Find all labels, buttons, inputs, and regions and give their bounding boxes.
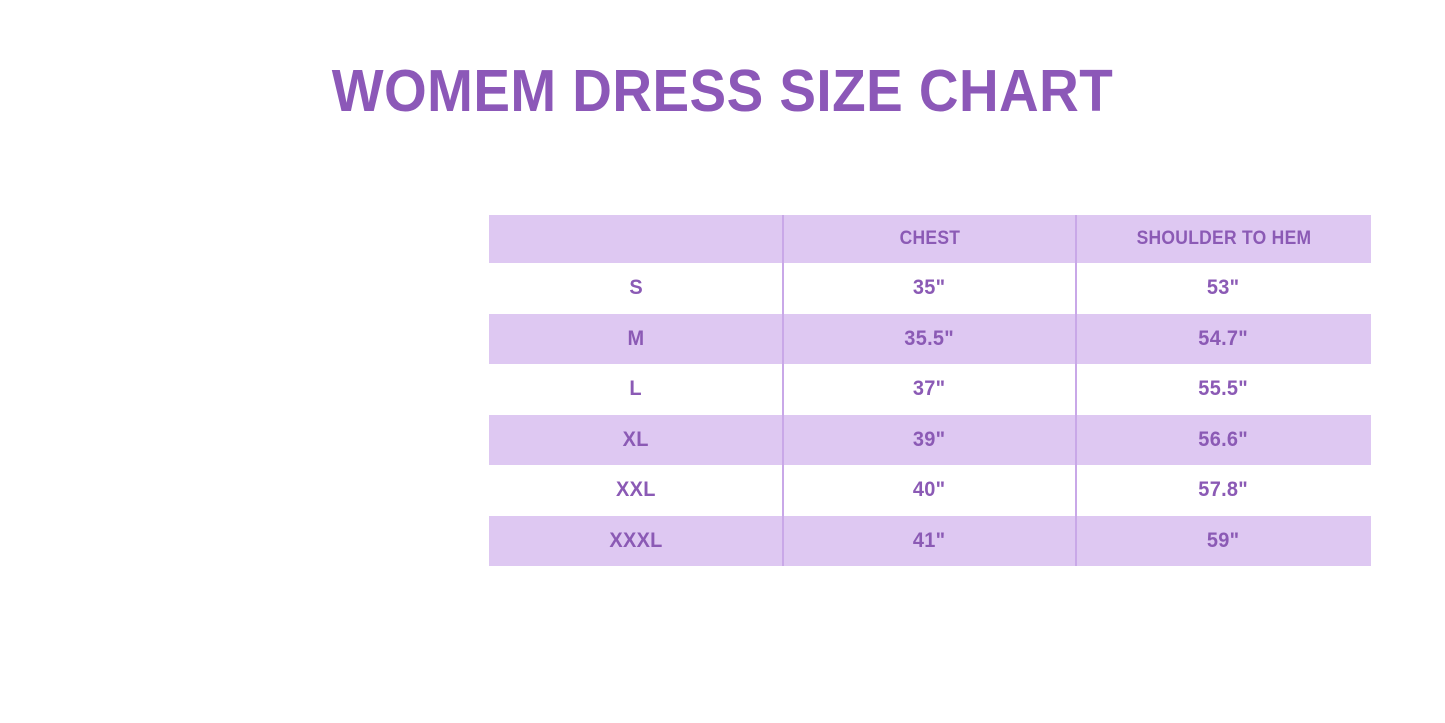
cell-size: S bbox=[489, 263, 783, 314]
cell-shoulder-to-hem: 56.6" bbox=[1076, 415, 1371, 466]
cell-shoulder-to-hem-label: 59" bbox=[1207, 529, 1240, 553]
cell-shoulder-to-hem: 57.8" bbox=[1076, 465, 1371, 516]
cell-shoulder-to-hem: 59" bbox=[1076, 516, 1371, 567]
table-row: XXXL 41" 59" bbox=[489, 516, 1371, 567]
cell-chest-label: 39" bbox=[913, 428, 946, 452]
cell-size: XXL bbox=[489, 465, 783, 516]
table-row: M 35.5" 54.7" bbox=[489, 314, 1371, 365]
cell-chest-label: 35.5" bbox=[905, 327, 955, 351]
cell-size-label: XXL bbox=[616, 478, 656, 502]
cell-shoulder-to-hem-label: 53" bbox=[1207, 276, 1240, 300]
cell-chest: 39" bbox=[783, 415, 1076, 466]
table-row: S 35" 53" bbox=[489, 263, 1371, 314]
column-header-shoulder-to-hem: SHOULDER TO HEM bbox=[1076, 215, 1371, 263]
cell-chest: 37" bbox=[783, 364, 1076, 415]
cell-chest-label: 35" bbox=[913, 276, 946, 300]
size-chart-table: CHEST SHOULDER TO HEM S 35" 53" M 35.5" … bbox=[489, 215, 1371, 566]
cell-shoulder-to-hem-label: 57.8" bbox=[1199, 478, 1249, 502]
column-header-chest-label: CHEST bbox=[899, 228, 960, 250]
cell-shoulder-to-hem-label: 54.7" bbox=[1199, 327, 1249, 351]
cell-chest-label: 41" bbox=[913, 529, 946, 553]
cell-shoulder-to-hem-label: 56.6" bbox=[1199, 428, 1249, 452]
cell-size: L bbox=[489, 364, 783, 415]
cell-chest: 35.5" bbox=[783, 314, 1076, 365]
cell-shoulder-to-hem: 54.7" bbox=[1076, 314, 1371, 365]
cell-size-label: XXXL bbox=[609, 529, 662, 553]
table-body: S 35" 53" M 35.5" 54.7" L 37" 55.5" XL 3… bbox=[489, 263, 1371, 566]
table-header-row: CHEST SHOULDER TO HEM bbox=[489, 215, 1371, 263]
cell-size-label: M bbox=[628, 327, 645, 351]
page-title: WOMEM DRESS SIZE CHART bbox=[51, 56, 1395, 126]
cell-size-label: L bbox=[630, 377, 642, 401]
cell-size: XXXL bbox=[489, 516, 783, 567]
column-header-size bbox=[489, 215, 783, 263]
column-header-chest: CHEST bbox=[783, 215, 1076, 263]
table-row: XXL 40" 57.8" bbox=[489, 465, 1371, 516]
cell-chest: 41" bbox=[783, 516, 1076, 567]
cell-shoulder-to-hem: 55.5" bbox=[1076, 364, 1371, 415]
column-header-shoulder-to-hem-label: SHOULDER TO HEM bbox=[1136, 228, 1311, 250]
size-chart-table-container: CHEST SHOULDER TO HEM S 35" 53" M 35.5" … bbox=[489, 215, 1371, 566]
cell-size-label: XL bbox=[623, 428, 649, 452]
cell-chest-label: 40" bbox=[913, 478, 946, 502]
table-row: XL 39" 56.6" bbox=[489, 415, 1371, 466]
cell-chest-label: 37" bbox=[913, 377, 946, 401]
cell-shoulder-to-hem-label: 55.5" bbox=[1199, 377, 1249, 401]
table-header: CHEST SHOULDER TO HEM bbox=[489, 215, 1371, 263]
table-row: L 37" 55.5" bbox=[489, 364, 1371, 415]
cell-size-label: S bbox=[629, 276, 643, 300]
cell-chest: 35" bbox=[783, 263, 1076, 314]
cell-size: XL bbox=[489, 415, 783, 466]
cell-size: M bbox=[489, 314, 783, 365]
cell-shoulder-to-hem: 53" bbox=[1076, 263, 1371, 314]
cell-chest: 40" bbox=[783, 465, 1076, 516]
